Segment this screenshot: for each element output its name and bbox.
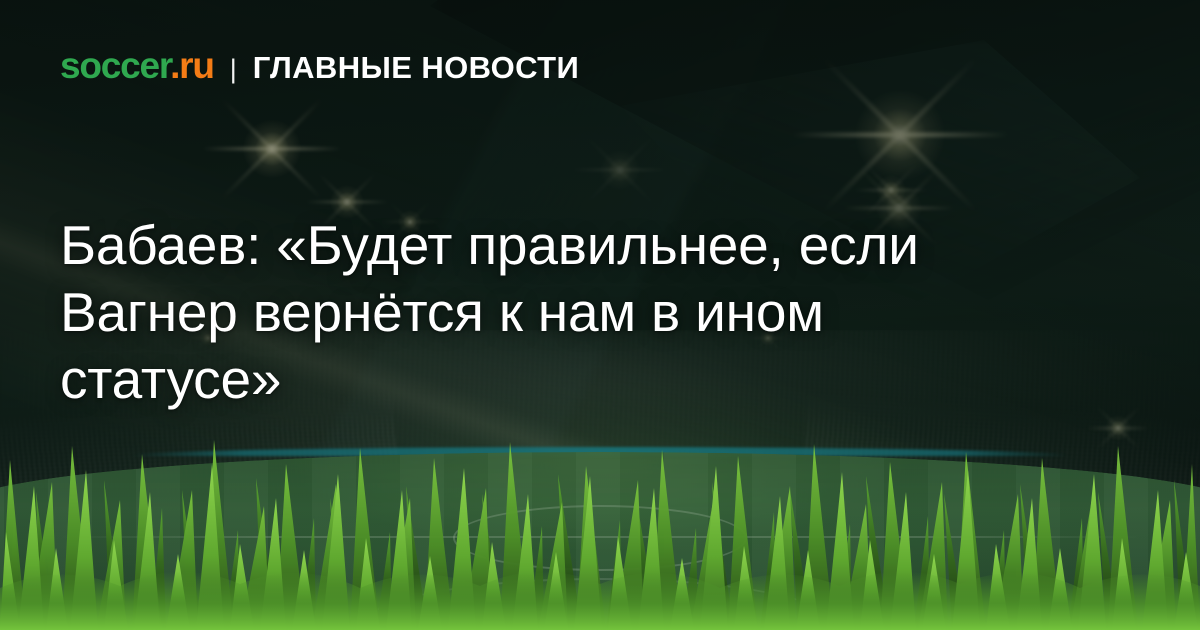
grass-icon bbox=[0, 420, 1200, 630]
page-title-line: Бабаев: «Будет правильнее, если bbox=[60, 212, 1070, 279]
card-header: soccer.ru | ГЛАВНЫЕ НОВОСТИ bbox=[60, 47, 579, 84]
news-share-card: soccer.ru | ГЛАВНЫЕ НОВОСТИ Бабаев: «Буд… bbox=[0, 0, 1200, 630]
header-divider: | bbox=[230, 56, 237, 83]
page-title-line: Вагнер вернётся к нам в ином bbox=[60, 279, 1070, 346]
logo-name-text: soccer bbox=[60, 45, 170, 86]
logo-tld-text: .ru bbox=[170, 45, 214, 86]
page-title: Бабаев: «Будет правильнее, если Вагнер в… bbox=[60, 212, 1070, 412]
page-title-line: статусе» bbox=[60, 346, 1070, 413]
section-label: ГЛАВНЫЕ НОВОСТИ bbox=[253, 52, 579, 83]
site-logo[interactable]: soccer.ru bbox=[60, 47, 214, 84]
